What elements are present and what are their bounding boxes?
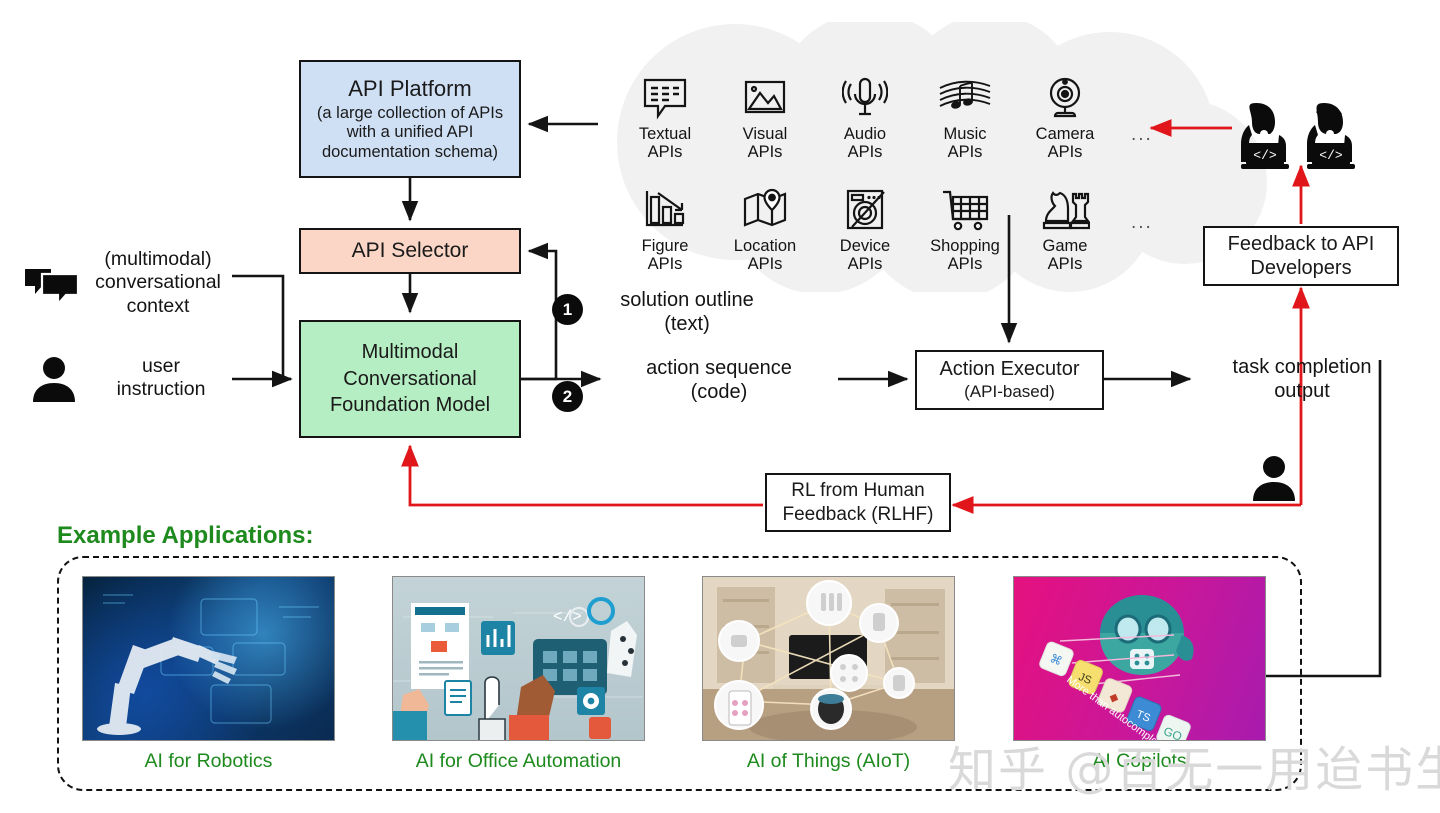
office-automation-thumbnail: </> — [392, 576, 645, 741]
api-platform-subtitle-2: with a unified API — [347, 123, 474, 142]
api-label-unit: APIs — [748, 143, 783, 161]
feedback-line-1: Feedback to API — [1228, 232, 1375, 256]
device-api-icon — [842, 184, 888, 232]
user-instruction-label: user instruction — [88, 355, 234, 402]
api-row-top: Textual APIs Visual APIs — [615, 72, 1135, 162]
textual-api-icon — [642, 72, 688, 120]
api-item-figure[interactable]: Figure APIs — [615, 184, 715, 274]
camera-api-icon — [1042, 72, 1088, 120]
cloud-ellipsis-bottom: ... — [1131, 212, 1153, 234]
action-executor-box[interactable]: Action Executor (API-based) — [915, 350, 1104, 410]
mcfm-line-1: Multimodal — [362, 339, 459, 365]
conversational-context-label: (multimodal) conversational context — [68, 248, 248, 318]
api-item-shopping[interactable]: Shopping APIs — [915, 184, 1015, 274]
task-completion-line-2: output — [1198, 379, 1406, 403]
rlhf-line-1: RL from Human — [791, 479, 924, 502]
rlhf-line-2: Feedback (RLHF) — [783, 503, 934, 526]
api-label-name: Music — [943, 125, 986, 143]
api-label-name: Audio — [844, 125, 886, 143]
cloud-ellipsis-top: ... — [1131, 124, 1153, 146]
api-selector-box[interactable]: API Selector — [299, 228, 521, 274]
api-label-unit: APIs — [1048, 255, 1083, 273]
step-badge-1: 1 — [552, 294, 583, 325]
action-sequence-label: action sequence (code) — [608, 356, 830, 404]
svg-text:</>: </> — [1253, 148, 1277, 163]
svg-text:</>: </> — [1319, 148, 1343, 163]
api-selector-title: API Selector — [352, 239, 469, 264]
user-instruction-line-2: instruction — [88, 378, 234, 401]
action-sequence-line-1: action sequence — [608, 356, 830, 380]
feedback-to-api-developers-box[interactable]: Feedback to API Developers — [1203, 226, 1399, 286]
api-label-unit: APIs — [648, 143, 683, 161]
user-instruction-line-1: user — [88, 355, 234, 378]
example-app-aiot[interactable]: AI of Things (AIoT) — [702, 576, 955, 773]
visual-api-icon — [742, 72, 788, 120]
solution-outline-line-2: (text) — [592, 312, 782, 336]
example-app-caption: AI for Office Automation — [392, 750, 645, 773]
smart-home-thumbnail — [702, 576, 955, 741]
conversational-context-line-3: context — [68, 295, 248, 318]
audio-api-icon — [842, 72, 888, 120]
user-person-icon — [32, 356, 76, 402]
api-item-visual[interactable]: Visual APIs — [715, 72, 815, 162]
api-label-name: Device — [840, 237, 890, 255]
api-item-location[interactable]: Location APIs — [715, 184, 815, 274]
api-label-unit: APIs — [948, 143, 983, 161]
music-api-icon — [938, 72, 992, 120]
mcfm-line-3: Foundation Model — [330, 392, 490, 418]
solution-outline-label: solution outline (text) — [592, 288, 782, 336]
api-label-unit: APIs — [948, 255, 983, 273]
chat-bubbles-icon — [24, 266, 80, 304]
api-item-music[interactable]: Music APIs — [915, 72, 1015, 162]
api-item-camera[interactable]: Camera APIs — [1015, 72, 1115, 162]
api-label-name: Figure — [642, 237, 689, 255]
conversational-context-line-2: conversational — [68, 271, 248, 294]
api-label-unit: APIs — [648, 255, 683, 273]
api-label-unit: APIs — [748, 255, 783, 273]
action-executor-title: Action Executor — [939, 358, 1079, 382]
api-label-name: Game — [1043, 237, 1088, 255]
api-developers-icon: </> </> — [1236, 100, 1376, 172]
location-api-icon — [742, 184, 788, 232]
diagram-canvas: API Platform (a large collection of APIs… — [0, 0, 1440, 813]
svg-text:</>: </> — [553, 608, 582, 626]
example-app-office-automation[interactable]: </> AI for Office Automation — [392, 576, 645, 773]
api-label-name: Textual — [639, 125, 691, 143]
api-item-textual[interactable]: Textual APIs — [615, 72, 715, 162]
shopping-api-icon — [941, 184, 989, 232]
feedback-line-2: Developers — [1250, 256, 1351, 280]
api-label-name: Shopping — [930, 237, 1000, 255]
api-row-bottom: Figure APIs Location — [615, 184, 1135, 274]
copilot-thumbnail: ⌘ JS ◆ TS GO More than autocomplete — [1013, 576, 1266, 741]
api-platform-box[interactable]: API Platform (a large collection of APIs… — [299, 60, 521, 178]
api-platform-title: API Platform — [348, 76, 471, 102]
api-platform-subtitle-3: documentation schema) — [322, 143, 498, 162]
api-label-unit: APIs — [848, 255, 883, 273]
game-api-icon — [1040, 184, 1090, 232]
multimodal-conversational-foundation-model-box[interactable]: Multimodal Conversational Foundation Mod… — [299, 320, 521, 438]
end-user-person-icon — [1252, 455, 1296, 501]
api-label-unit: APIs — [1048, 143, 1083, 161]
task-completion-line-1: task completion — [1198, 355, 1406, 379]
example-applications-title: Example Applications: — [57, 522, 314, 550]
action-executor-subtitle: (API-based) — [964, 382, 1055, 402]
watermark: 知乎 @百无一用迨书生 — [948, 730, 1440, 800]
api-label-unit: APIs — [848, 143, 883, 161]
task-completion-output-label: task completion output — [1198, 355, 1406, 403]
api-label-name: Location — [734, 237, 796, 255]
api-platform-subtitle-1: (a large collection of APIs — [317, 104, 503, 123]
mcfm-line-2: Conversational — [343, 366, 476, 392]
api-label-name: Visual — [743, 125, 788, 143]
rlhf-box[interactable]: RL from Human Feedback (RLHF) — [765, 473, 951, 532]
step-badge-2: 2 — [552, 381, 583, 412]
api-label-name: Camera — [1036, 125, 1095, 143]
example-app-robotics[interactable]: AI for Robotics — [82, 576, 335, 773]
example-app-caption: AI for Robotics — [82, 750, 335, 773]
action-sequence-line-2: (code) — [608, 380, 830, 404]
api-item-audio[interactable]: Audio APIs — [815, 72, 915, 162]
conversational-context-line-1: (multimodal) — [68, 248, 248, 271]
api-item-device[interactable]: Device APIs — [815, 184, 915, 274]
example-app-caption: AI of Things (AIoT) — [702, 750, 955, 773]
figure-api-icon — [642, 184, 688, 232]
api-icon-grid: Textual APIs Visual APIs — [615, 72, 1135, 274]
api-item-game[interactable]: Game APIs — [1015, 184, 1115, 274]
solution-outline-line-1: solution outline — [592, 288, 782, 312]
robot-arm-thumbnail — [82, 576, 335, 741]
